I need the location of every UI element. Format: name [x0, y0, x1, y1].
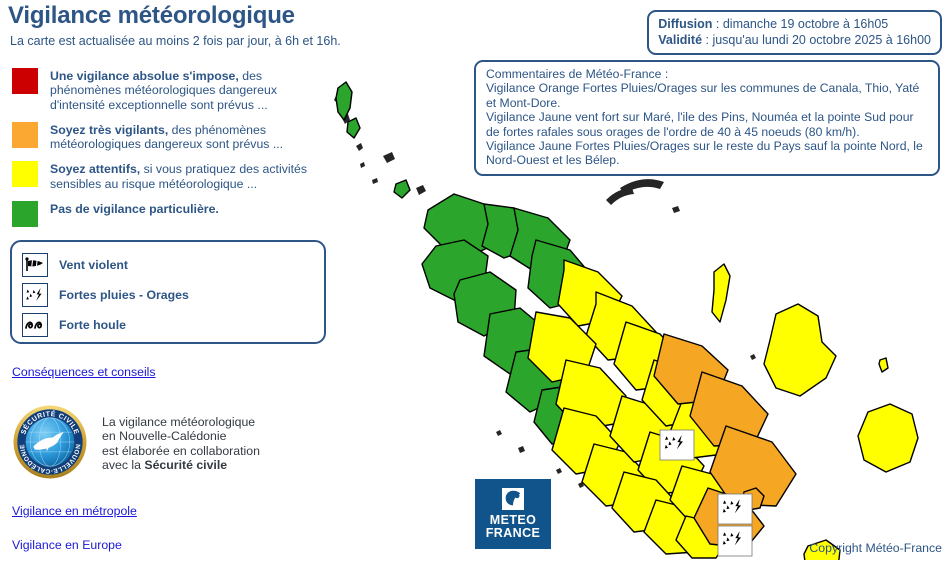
region-belep-islet[interactable] — [394, 180, 410, 198]
page-subtitle: La carte est actualisée au moins 2 fois … — [10, 34, 341, 48]
map-badge-rain-storm-canala[interactable] — [660, 430, 694, 460]
sc-line-4-bold: Sécurité civile — [144, 458, 227, 472]
sc-line-2: en Nouvelle-Calédonie — [102, 429, 260, 443]
phenomenon-item-rain-storm: Fortes pluies - Orages — [22, 280, 324, 310]
copyright-text: Copyright Météo-France — [809, 541, 942, 555]
legend-text-green: Pas de vigilance particulière. — [50, 201, 219, 216]
diffusion-label: Diffusion — [658, 17, 712, 31]
region-belep-south[interactable] — [347, 118, 360, 138]
sc-line-1: La vigilance météorologique — [102, 415, 260, 429]
diffusion-line: Diffusion : dimanche 19 octobre à 16h05 — [658, 16, 931, 32]
validity-line: Validité : jusqu'au lundi 20 octobre 202… — [658, 32, 931, 48]
legend-item-orange: Soyez très vigilants, des phénomènes mét… — [12, 122, 332, 152]
legend-bold-green: Pas de vigilance particulière. — [50, 202, 219, 216]
vigilance-level-legend: Une vigilance absolue s'impose, des phén… — [12, 68, 332, 237]
phenomenon-item-swell: Forte houle — [22, 310, 324, 340]
legend-text-red: Une vigilance absolue s'impose, des phén… — [50, 68, 332, 112]
securite-civile-text: La vigilance météorologique en Nouvelle-… — [102, 404, 260, 472]
link-consequences-et-conseils[interactable]: Conséquences et conseils — [12, 365, 156, 379]
vigilance-map[interactable] — [320, 60, 950, 560]
swatch-yellow — [12, 161, 38, 187]
legend-text-yellow: Soyez attentifs, si vous pratiquez des a… — [50, 161, 332, 191]
swatch-red — [12, 68, 38, 94]
legend-item-green: Pas de vigilance particulière. — [12, 201, 332, 227]
region-lifou[interactable] — [764, 304, 836, 396]
phenomena-legend-box: Vent violent Fortes pluies - Orages Fort… — [10, 240, 326, 344]
phenomenon-label-swell: Forte houle — [59, 318, 126, 332]
map-badge-rain-storm-mont-dore[interactable] — [718, 526, 752, 556]
sc-line-3: est élaborée en collaboration — [102, 444, 260, 458]
region-mare[interactable] — [858, 404, 918, 472]
diffusion-validity-box: Diffusion : dimanche 19 octobre à 16h05 … — [647, 10, 942, 55]
link-vigilance-metropole[interactable]: Vigilance en métropole — [12, 504, 137, 518]
securite-civile-block: SÉCURITÉ CIVILE NOUVELLE-CALÉDONIE La vi… — [12, 404, 260, 480]
page-title: Vigilance météorologique — [8, 2, 295, 30]
legend-item-red: Une vigilance absolue s'impose, des phén… — [12, 68, 332, 112]
swatch-green — [12, 201, 38, 227]
legend-bold-orange: Soyez très vigilants, — [50, 123, 168, 137]
validity-label: Validité — [658, 33, 702, 47]
swatch-orange — [12, 122, 38, 148]
high-swell-icon — [22, 313, 48, 337]
phenomenon-label-rain-storm: Fortes pluies - Orages — [59, 288, 189, 302]
map-regions — [336, 82, 918, 560]
link-vigilance-europe[interactable]: Vigilance en Europe — [12, 538, 122, 552]
securite-civile-logo: SÉCURITÉ CIVILE NOUVELLE-CALÉDONIE — [12, 404, 88, 480]
meteo-france-mark — [502, 488, 524, 510]
legend-bold-red: Une vigilance absolue s'impose, — [50, 69, 239, 83]
meteo-france-logo: METEO FRANCE — [475, 479, 551, 549]
sc-line-4: avec la Sécurité civile — [102, 458, 260, 472]
meteo-france-logo-line1: METEO — [490, 514, 536, 528]
meteo-france-logo-line2: FRANCE — [486, 527, 540, 541]
region-ouvea[interactable] — [712, 264, 730, 322]
region-belep-north[interactable] — [336, 82, 352, 120]
map-badge-rain-storm-yate[interactable] — [718, 494, 752, 524]
legend-bold-yellow: Soyez attentifs, — [50, 162, 140, 176]
legend-item-yellow: Soyez attentifs, si vous pratiquez des a… — [12, 161, 332, 191]
rain-storm-icon — [22, 283, 48, 307]
phenomenon-label-wind: Vent violent — [59, 258, 128, 272]
phenomenon-item-wind: Vent violent — [22, 250, 324, 280]
region-tiga[interactable] — [879, 358, 888, 372]
windsock-icon — [22, 253, 48, 277]
sc-line-4-prefix: avec la — [102, 458, 144, 472]
validity-value: : jusqu'au lundi 20 octobre 2025 à 16h00 — [702, 33, 931, 47]
diffusion-value: : dimanche 19 octobre à 16h05 — [712, 17, 888, 31]
legend-text-orange: Soyez très vigilants, des phénomènes mét… — [50, 122, 332, 152]
